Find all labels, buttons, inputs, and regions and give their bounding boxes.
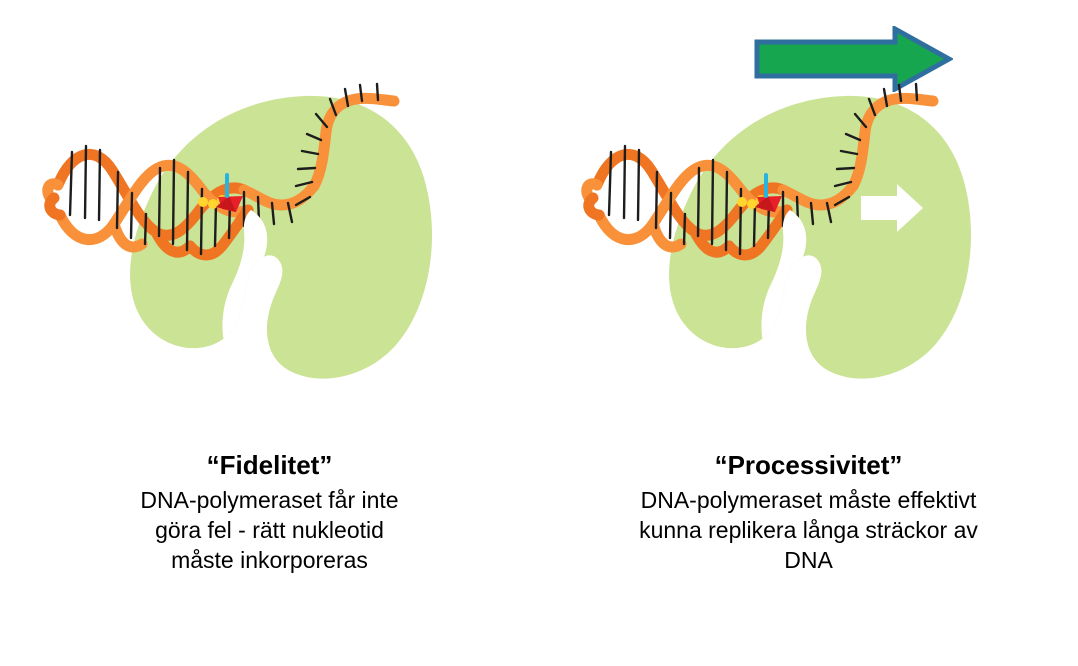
figure-processivity [539,0,1078,440]
panel-fidelity: “Fidelitet” DNA-polymeraset får inte gör… [0,0,539,666]
figure-fidelity [0,0,539,440]
panel-processivity: “Processivitet” DNA-polymeraset måste ef… [539,0,1078,666]
panel-title: “Fidelitet” [0,448,539,482]
caption-fidelity: “Fidelitet” DNA-polymeraset får inte gör… [0,448,539,575]
panel-body: DNA-polymeraset får inte göra fel - rätt… [70,485,470,575]
slide-canvas: “Fidelitet” DNA-polymeraset får inte gör… [0,0,1078,666]
caption-processivity: “Processivitet” DNA-polymeraset måste ef… [539,448,1078,575]
panel-body: DNA-polymeraset måste effektivt kunna re… [574,485,1044,575]
panel-title: “Processivitet” [539,448,1078,482]
